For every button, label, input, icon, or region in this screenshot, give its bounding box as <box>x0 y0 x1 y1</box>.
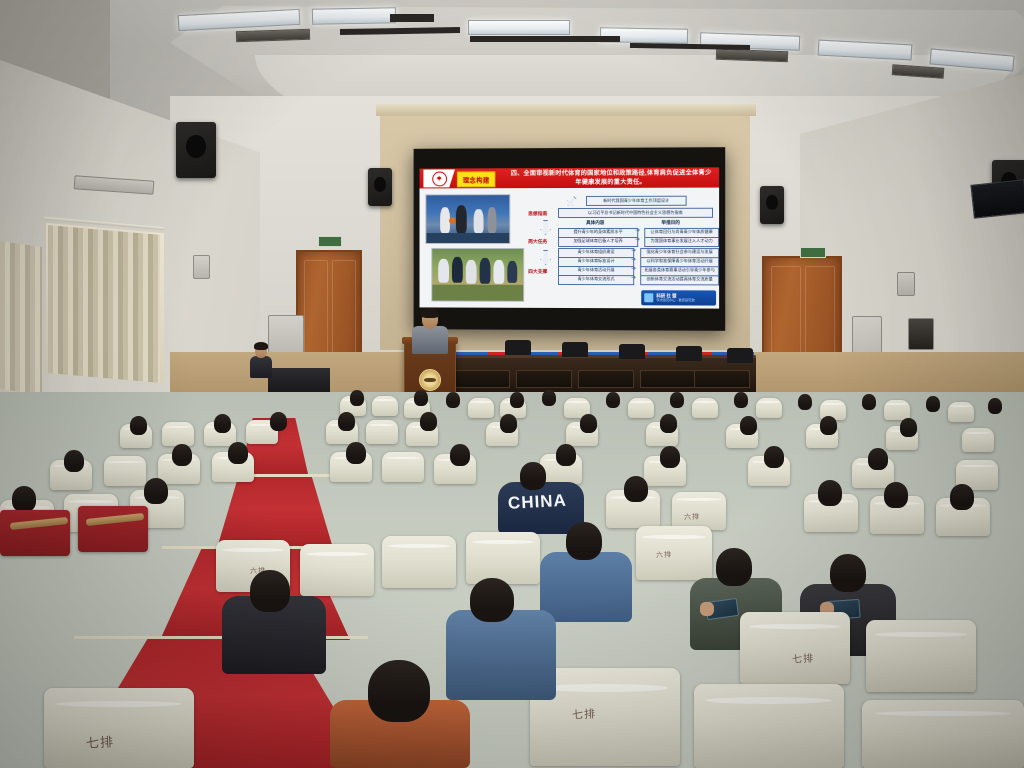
attendee-head <box>566 522 602 560</box>
attendee-head <box>500 414 517 433</box>
attendee-head <box>172 444 192 466</box>
flow-arrow-icon: ➜ <box>635 237 640 243</box>
lecture-hall-photo: 理念构建 四、全面审视新时代体育的国家地位和政策路径,体育肩负促进全体青少年健康… <box>0 0 1024 768</box>
photo-figure <box>466 260 477 284</box>
slide-section-tag: 理念构建 <box>457 171 496 187</box>
presenter-hair <box>421 308 439 318</box>
attendee-head <box>144 478 168 504</box>
seat-cover <box>382 452 424 482</box>
attendee-head <box>64 450 84 472</box>
flow-arrow-icon: ➜ <box>635 228 640 234</box>
seat-cover <box>756 398 782 418</box>
stage-chair <box>727 348 753 363</box>
logo-leaf-icon <box>436 175 442 181</box>
photo-figure <box>456 205 467 233</box>
attendee-head <box>130 416 147 435</box>
attendee-head <box>606 392 620 408</box>
flow-label-guide: 思想指南 <box>528 210 547 217</box>
flow-column-header-right: 举措目的 <box>661 220 680 226</box>
slide-photo-football <box>431 248 524 302</box>
flow-column-header-left: 具体内容 <box>586 220 604 226</box>
seat-cover <box>468 398 494 418</box>
podium-emblem-icon <box>419 369 441 391</box>
jacket-text-china: CHINA <box>508 490 577 514</box>
side-attendee-body <box>250 356 272 378</box>
attendee-head <box>446 392 460 408</box>
attendee-head <box>660 446 680 468</box>
table-carving <box>454 370 510 388</box>
attendee-head <box>338 412 355 431</box>
side-attendee-hair <box>254 342 268 350</box>
photo-figure <box>438 259 449 283</box>
attendee-head <box>884 482 908 508</box>
attendee-head <box>228 442 248 464</box>
wall-speaker-box <box>897 272 915 296</box>
attendee-head <box>542 390 556 406</box>
seat-cover <box>162 422 194 446</box>
attendee-head <box>820 416 837 435</box>
window-curtain <box>0 241 42 395</box>
attendee-head <box>818 480 842 506</box>
photo-figure <box>474 209 484 233</box>
seat-row-label: 七排 <box>572 705 597 722</box>
attendee-head <box>734 392 748 408</box>
projection-screen: 理念构建 四、全面审视新时代体育的国家地位和政策路径,体育肩负促进全体青少年健康… <box>414 147 726 331</box>
seat-row-label: 六排 <box>684 512 701 523</box>
flow-arrow-icon: ➜ <box>631 275 636 281</box>
flow-arrow-icon <box>540 220 551 235</box>
table-carving <box>516 370 572 388</box>
stage-chair <box>676 346 702 361</box>
wall-box-right <box>908 318 934 350</box>
flow-arrow-icon: ➜ <box>631 257 636 263</box>
photo-figure <box>487 207 496 233</box>
watermark-mark-icon <box>644 293 653 302</box>
seat-cover <box>372 396 398 416</box>
attendee-head <box>862 394 876 410</box>
seat-cover <box>382 536 456 588</box>
flow-arrow-icon: ➜ <box>631 248 636 254</box>
attendee-body <box>540 552 632 622</box>
seat-cover <box>740 612 850 684</box>
flow-row-right: 创新体育交流活动提高体育交流质量 <box>640 275 719 285</box>
attendee-head <box>670 392 684 408</box>
stage-chair <box>505 340 531 355</box>
attendee-head <box>470 578 514 622</box>
seat-cover <box>862 700 1024 768</box>
seat-cover <box>104 456 146 486</box>
photo-floor <box>426 233 509 243</box>
slide-title: 四、全面审视新时代体育的国家地位和政策路径,体育肩负促进全体青少年健康发展的重大… <box>506 168 716 189</box>
seat-cover <box>466 532 540 584</box>
seat-cover <box>628 398 654 418</box>
seat-cover <box>694 684 844 768</box>
attendee-head <box>214 414 231 433</box>
photo-turf <box>432 285 523 301</box>
attendee-head <box>346 442 366 464</box>
window-curtain <box>48 225 160 383</box>
ceiling-light-strip <box>468 20 570 35</box>
exit-sign-right <box>800 247 826 258</box>
flow-top-box: 新时代我国青少年体育工作顶层设计 <box>586 196 687 206</box>
speaker-right-stage <box>760 186 784 224</box>
stage-chair <box>562 342 588 357</box>
hand <box>700 602 714 616</box>
attendee-head <box>420 412 437 431</box>
attendee-head <box>868 448 888 470</box>
photo-figure <box>452 257 463 283</box>
attendee-head <box>450 444 470 466</box>
seat-cover <box>44 688 194 768</box>
logo-circle <box>432 171 447 186</box>
monitor-top-right <box>970 179 1024 218</box>
flow-row-left: 青少年体育交流形式 <box>558 275 634 285</box>
speaker-left-stage <box>368 168 392 206</box>
ceiling-recess <box>390 14 434 22</box>
ceiling-light-strip <box>312 7 396 24</box>
photo-ball <box>449 217 456 224</box>
stage-panel-trim <box>376 104 756 116</box>
seat-cover <box>366 420 398 444</box>
attendee-head <box>988 398 1002 414</box>
seat-cover <box>866 620 976 692</box>
flow-row-left: 加强足球体育后备人才培养 <box>558 237 638 247</box>
flow-label-support: 四大支撑 <box>528 268 547 275</box>
flow-label-tasks: 两大任务 <box>528 238 547 245</box>
attendee-head <box>950 484 974 510</box>
attendee-body <box>446 610 556 700</box>
attendee-head <box>368 660 430 722</box>
exit-sign-left <box>318 236 342 247</box>
seat-cover <box>300 544 374 596</box>
photo-figure <box>493 260 504 284</box>
flow-guide-box: 以习近平总书记新时代中国特色社会主义思想为指南 <box>558 208 713 218</box>
seat-row-label: 六排 <box>656 550 673 561</box>
attendee-head <box>926 396 940 412</box>
attendee-head <box>764 446 784 468</box>
attendee-head <box>556 444 576 466</box>
speaker-left-wall <box>176 122 216 178</box>
attendee-head <box>250 570 290 612</box>
attendee-head <box>350 390 364 406</box>
seat-row-label: 七排 <box>792 649 815 665</box>
seat-cover <box>884 400 910 420</box>
attendee-head <box>520 462 546 490</box>
photo-figure <box>480 258 491 284</box>
attendee-head <box>510 392 524 408</box>
flow-arrow-icon <box>540 250 551 265</box>
attendee-head <box>900 418 917 437</box>
seat-cover <box>636 526 712 580</box>
flow-row-right: 为我国体育事业发展注入人才动力 <box>644 237 719 247</box>
seat-cover <box>692 398 718 418</box>
attendee-head <box>798 394 812 410</box>
attendee-head <box>830 554 866 592</box>
seat-cover <box>948 402 974 422</box>
presenter-body <box>412 326 448 354</box>
watermark-subtitle: 学术研究中心 · 教育研究院 <box>656 298 694 302</box>
slide-watermark-badge: 科研 社 盟 学术研究中心 · 教育研究院 <box>641 290 716 305</box>
wall-speaker-box <box>193 255 210 279</box>
presentation-slide: 理念构建 四、全面审视新时代体育的国家地位和政策路径,体育肩负促进全体青少年健康… <box>420 167 720 308</box>
attendee-head <box>414 390 428 406</box>
attendee-head <box>660 414 677 433</box>
photo-figure <box>507 261 517 283</box>
attendee-head <box>624 476 648 502</box>
flow-arrow-icon <box>565 195 579 209</box>
attendee-head <box>716 548 752 586</box>
side-table-left <box>268 368 330 394</box>
slide-photo-basketball <box>425 194 510 244</box>
attendee-head <box>740 416 757 435</box>
attendee-head <box>12 486 36 512</box>
seat-cover <box>962 428 994 452</box>
seat-row-label: 七排 <box>86 731 115 751</box>
ceiling-recess <box>470 36 620 42</box>
attendee-head <box>270 412 287 431</box>
attendee-head <box>580 414 597 433</box>
flow-arrow-icon: ➜ <box>631 266 636 272</box>
stage-chair <box>619 344 645 359</box>
